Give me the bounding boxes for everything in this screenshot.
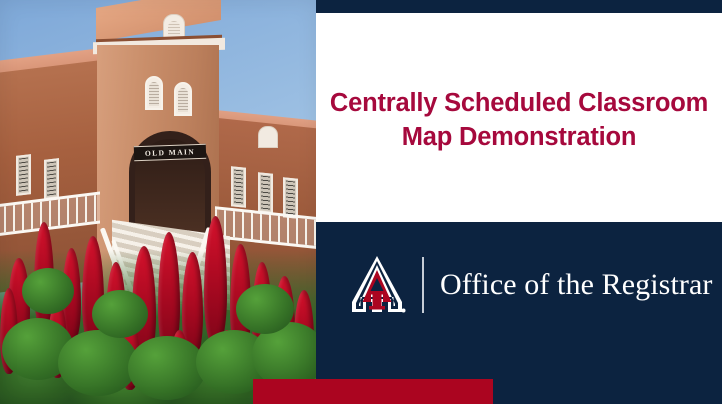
bottom-accent-bar (253, 379, 493, 404)
tower-window-left (145, 76, 163, 110)
foliage-clump (236, 284, 294, 334)
right-wing-window-1 (231, 166, 246, 208)
left-wing-window-2 (44, 158, 59, 200)
tower-dormer-louver (168, 21, 180, 36)
title-slide: OLD MAIN (0, 0, 722, 404)
old-main-sign-label: OLD MAIN (145, 147, 195, 158)
old-main-sign: OLD MAIN (134, 144, 206, 162)
block-a-logo-icon (346, 254, 408, 316)
title-panel: Centrally Scheduled Classroom Map Demons… (316, 13, 722, 222)
foliage-clump (58, 330, 138, 396)
brand-panel: Office of the Registrar (316, 222, 722, 404)
page-title: Centrally Scheduled Classroom Map Demons… (317, 87, 721, 154)
foliage-clump (92, 290, 148, 338)
left-wing-window-1 (16, 154, 31, 196)
right-wing-window-3 (283, 177, 298, 219)
foliage-clump (128, 336, 206, 400)
top-accent-bar (316, 0, 722, 13)
right-wing-dormer (258, 126, 278, 148)
foliage-clump (22, 268, 74, 314)
old-main-photo: OLD MAIN (0, 0, 317, 404)
tower-dormer (163, 14, 185, 38)
tower-window-right (174, 82, 192, 116)
right-wing-window-2 (258, 172, 273, 214)
brand-lockup: Office of the Registrar (346, 254, 712, 316)
registrar-unit-name: Office of the Registrar (440, 268, 712, 302)
logo-divider (422, 257, 424, 313)
